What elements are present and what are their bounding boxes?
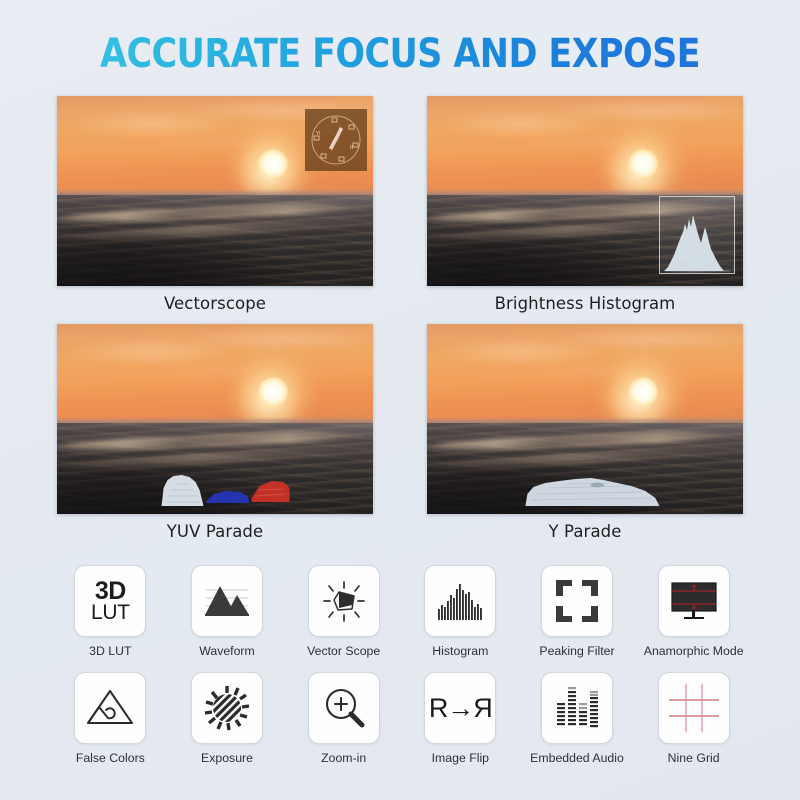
- sun-disc: [628, 149, 658, 179]
- feature-item-3d-lut[interactable]: 3D LUT 3D LUT: [52, 565, 169, 658]
- exposure-icon[interactable]: [191, 672, 263, 744]
- page-title: ACCURATE FOCUS AND EXPOSE: [12, 31, 788, 77]
- feature-icon-grid: 3D LUT 3D LUT Waveform: [52, 565, 752, 765]
- sun-disc: [628, 377, 658, 407]
- histogram-glyph: [436, 581, 484, 621]
- feature-label: Embedded Audio: [530, 751, 624, 765]
- lut-top-text: 3D: [91, 580, 130, 603]
- vector-scope-icon[interactable]: [308, 565, 380, 637]
- false-colors-glyph: [86, 688, 134, 728]
- zoom-in-glyph: [322, 686, 366, 730]
- nine-grid-icon[interactable]: [658, 672, 730, 744]
- yuv-parade-icon: [160, 472, 292, 508]
- feature-item-waveform[interactable]: Waveform: [169, 565, 286, 658]
- image-flip-icon[interactable]: R→Я: [424, 672, 496, 744]
- sun-disc: [258, 149, 288, 179]
- lut-bottom-text: LUT: [91, 603, 130, 623]
- feature-label: Peaking Filter: [539, 644, 614, 658]
- sun-disc: [258, 377, 288, 407]
- nine-grid-glyph: [668, 683, 720, 733]
- feature-item-false-colors[interactable]: False Colors: [52, 672, 169, 765]
- yuv-parade-overlay: [160, 472, 292, 508]
- feature-label: Exposure: [201, 751, 253, 765]
- panel-caption-y-parade: Y Parade: [427, 522, 743, 541]
- preview-panel-vectorscope: Yl R: [57, 96, 373, 286]
- feature-item-anamorphic-mode[interactable]: Anamorphic Mode: [635, 565, 752, 658]
- 3d-lut-icon[interactable]: 3D LUT: [74, 565, 146, 637]
- histogram-icon[interactable]: [424, 565, 496, 637]
- feature-label: Nine Grid: [668, 751, 720, 765]
- exposure-glyph: [204, 685, 250, 731]
- feature-item-zoom-in[interactable]: Zoom-in: [285, 672, 402, 765]
- preview-panel-y-parade: [427, 324, 743, 514]
- feature-label: Anamorphic Mode: [644, 644, 744, 658]
- embedded-audio-glyph: [555, 687, 599, 729]
- peaking-filter-glyph: [556, 580, 598, 622]
- feature-label: False Colors: [76, 751, 145, 765]
- zoom-in-icon[interactable]: [308, 672, 380, 744]
- feature-label: Image Flip: [432, 751, 489, 765]
- histogram-overlay: [659, 196, 735, 274]
- feature-item-histogram[interactable]: Histogram: [402, 565, 519, 658]
- feature-item-image-flip[interactable]: R→Я Image Flip: [402, 672, 519, 765]
- panel-caption-brightness-histogram: Brightness Histogram: [427, 294, 743, 313]
- preview-panel-yuv-parade: [57, 324, 373, 514]
- y-parade-icon: [523, 474, 663, 508]
- anamorphic-mode-glyph: [669, 580, 719, 622]
- vector-scope-glyph: [321, 579, 367, 623]
- false-colors-icon[interactable]: [74, 672, 146, 744]
- feature-item-embedded-audio[interactable]: Embedded Audio: [519, 672, 636, 765]
- svg-text:R: R: [350, 145, 354, 151]
- feature-label: 3D LUT: [89, 644, 131, 658]
- foreground-wave-shadow: [57, 199, 373, 286]
- feature-item-exposure[interactable]: Exposure: [169, 672, 286, 765]
- feature-label: Histogram: [432, 644, 488, 658]
- image-flip-text: R→Я: [429, 693, 492, 724]
- y-parade-overlay: [523, 474, 663, 508]
- waveform-glyph: [204, 580, 250, 622]
- cloud-haze-layer: [427, 324, 743, 430]
- feature-label: Vector Scope: [307, 644, 380, 658]
- preview-panel-brightness-histogram: [427, 96, 743, 286]
- vectorscope-graticule-icon: Yl R: [305, 109, 367, 171]
- svg-text:Yl: Yl: [315, 131, 320, 137]
- peaking-filter-icon[interactable]: [541, 565, 613, 637]
- brightness-histogram-icon: [660, 197, 734, 273]
- embedded-audio-icon[interactable]: [541, 672, 613, 744]
- anamorphic-mode-icon[interactable]: [658, 565, 730, 637]
- vectorscope-overlay: Yl R: [305, 109, 367, 171]
- panel-caption-vectorscope: Vectorscope: [57, 294, 373, 313]
- feature-label: Zoom-in: [321, 751, 366, 765]
- panel-caption-yuv-parade: YUV Parade: [57, 522, 373, 541]
- 3d-lut-text: 3D LUT: [91, 580, 130, 623]
- feature-label: Waveform: [199, 644, 255, 658]
- promo-page: ACCURATE FOCUS AND EXPOSE Yl: [0, 0, 800, 800]
- feature-item-peaking-filter[interactable]: Peaking Filter: [519, 565, 636, 658]
- feature-item-vector-scope[interactable]: Vector Scope: [285, 565, 402, 658]
- waveform-icon[interactable]: [191, 565, 263, 637]
- cloud-haze-layer: [57, 324, 373, 430]
- feature-item-nine-grid[interactable]: Nine Grid: [635, 672, 752, 765]
- cloud-haze-layer: [427, 96, 743, 202]
